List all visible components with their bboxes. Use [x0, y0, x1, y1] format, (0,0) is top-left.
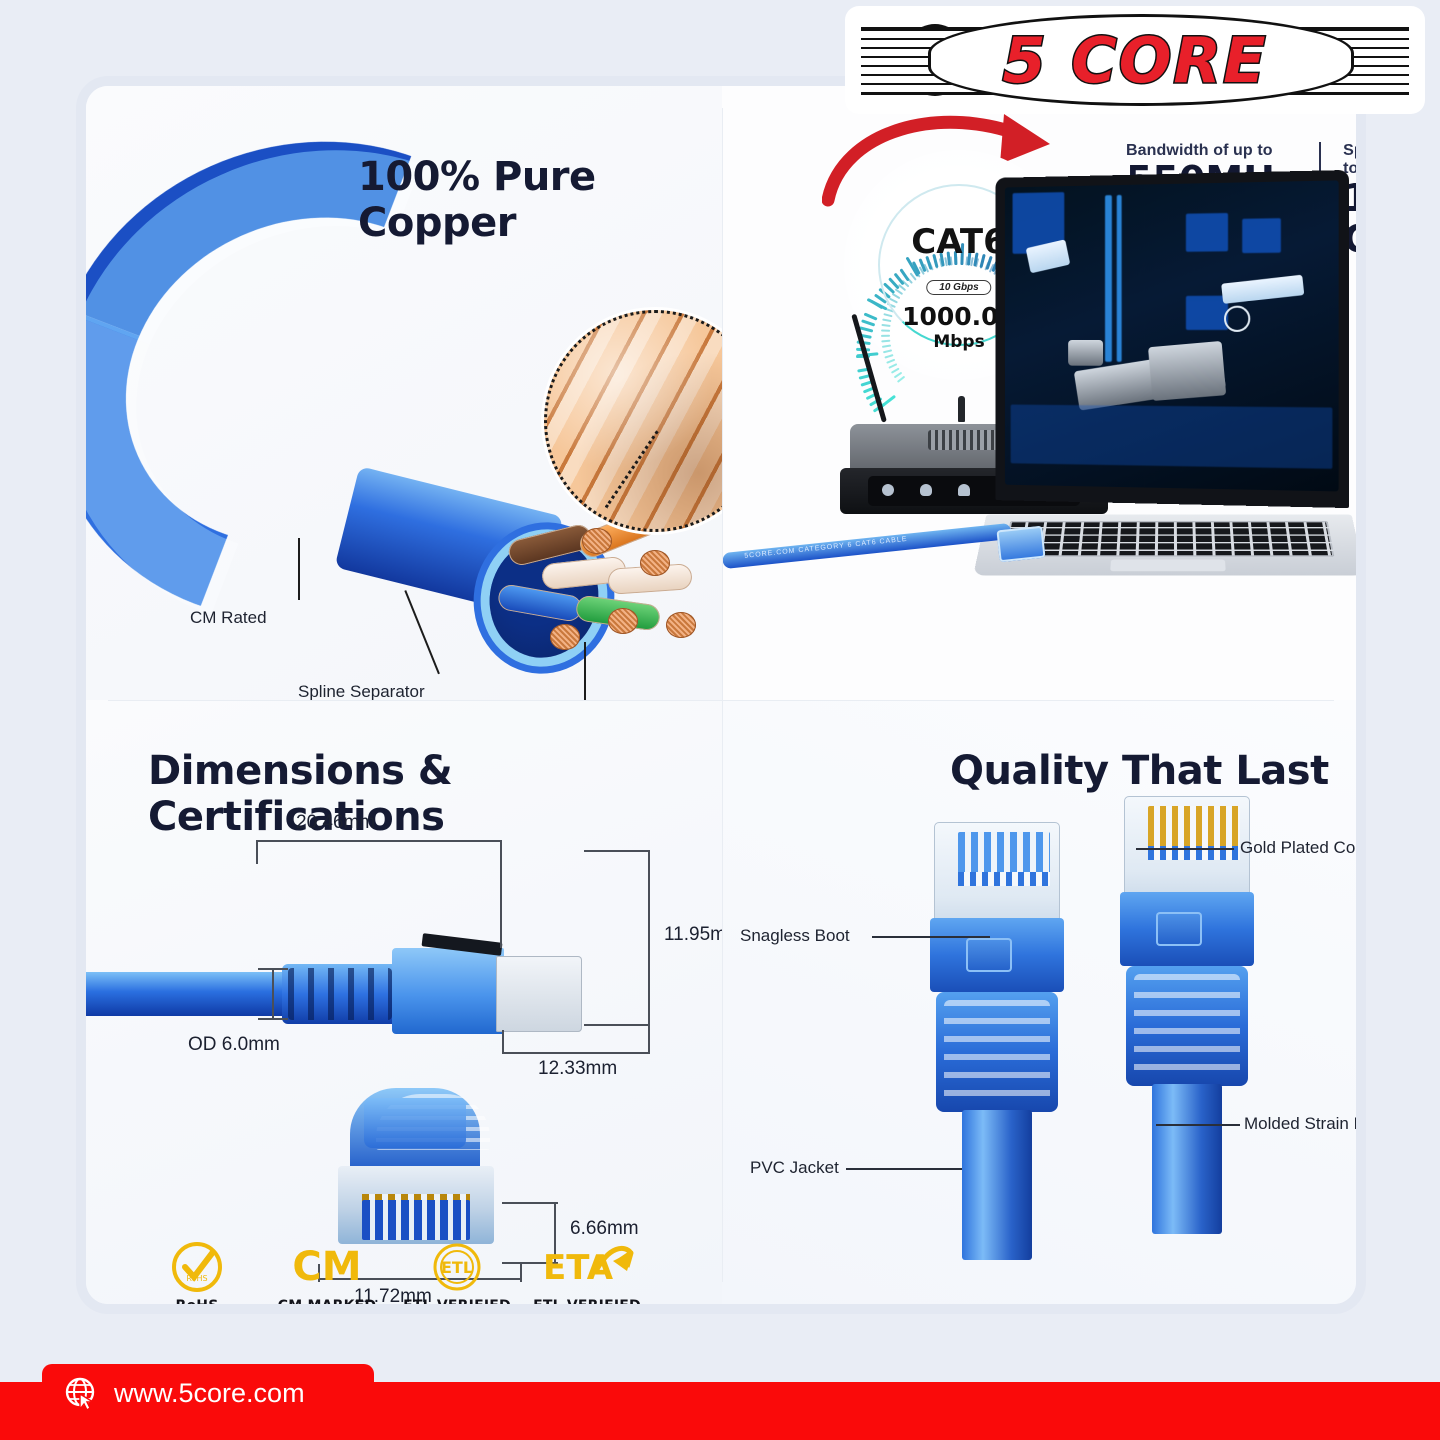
label-spline-separator: Spline Separator	[298, 682, 425, 700]
crosshair-icon	[1224, 306, 1250, 332]
cable-boot-side	[282, 964, 398, 1024]
svg-text:ETA: ETA	[543, 1248, 614, 1288]
rj45-plug-body	[392, 948, 504, 1034]
globe-cursor-icon	[64, 1376, 98, 1410]
badge-eta-caption: ETL VERIFIED	[522, 1298, 652, 1304]
dimline-plug-width	[502, 1052, 650, 1054]
router-led-internet	[920, 484, 932, 496]
copper-end-4	[550, 624, 580, 650]
cable-print-text: 5CORE.COM CATEGORY 6 CAT6 CABLE	[744, 536, 908, 560]
dimline-height	[648, 850, 650, 1026]
copper-end-1	[582, 528, 612, 554]
rj45-pin-wires	[362, 1200, 470, 1240]
rohs-check-circle-icon: RoHS	[132, 1236, 262, 1298]
badge-rohs: RoHS RoHS COMPLIANT	[132, 1236, 262, 1304]
panel-title-dimensions: Dimensions & Certifications	[148, 748, 722, 840]
laptop-graphic	[990, 174, 1356, 614]
pair-blue	[496, 583, 583, 623]
badge-eta: ETA ETL VERIFIED	[522, 1236, 652, 1304]
cable-jacket-side	[86, 972, 290, 1016]
callout-strain-relief: Molded Strain Relief	[1244, 1114, 1356, 1134]
eta-arrow-icon: ETA	[522, 1236, 652, 1298]
panel-pure-copper: 100% Pure Copper CM Rated Spline Separat…	[86, 86, 722, 700]
connector-left-jacket	[962, 1110, 1032, 1260]
leader-strain-relief	[1156, 1124, 1240, 1126]
connector-right-window	[1156, 912, 1202, 946]
panel-divider-vertical	[722, 108, 723, 1282]
laptop-screen-game	[1005, 180, 1339, 491]
dimtext-od: OD 6.0mm	[188, 1034, 280, 1056]
etl-seal-icon: ETL	[392, 1236, 522, 1298]
laptop-keyboard	[1004, 521, 1335, 557]
certification-badges: RoHS RoHS COMPLIANT CM CM MARKED ETL ETL	[132, 1236, 652, 1304]
leader-twisted-pairs	[584, 642, 586, 700]
cm-mark-icon: CM	[262, 1236, 392, 1298]
connector-left-latch	[966, 938, 1012, 972]
badge-cm-caption: CM MARKED	[262, 1298, 392, 1304]
badge-etl-caption: ETL VERIFIED	[392, 1298, 522, 1304]
svg-text:RoHS: RoHS	[186, 1274, 207, 1283]
copper-end-3	[608, 608, 638, 634]
footer-bar: www.5core.com	[0, 1382, 1440, 1440]
cable-plug-end	[996, 526, 1045, 563]
connector-right-strain-relief	[1126, 966, 1248, 1086]
panel-title-quality: Quality That Last	[950, 748, 1329, 794]
leader-spline-separator	[404, 590, 439, 674]
callout-snagless-boot: Snagless Boot	[740, 926, 850, 946]
leader-gold-contacts	[1136, 848, 1234, 850]
panel-divider-horizontal	[108, 700, 1334, 701]
brand-logo: 5 CORE	[845, 6, 1425, 114]
leader-pvc-jacket	[846, 1168, 962, 1170]
label-cm-rated: CM Rated	[190, 608, 267, 628]
connector-right-jacket	[1152, 1084, 1222, 1234]
router-led-wlan	[958, 484, 970, 496]
dimline-length	[256, 840, 502, 842]
copper-end-2	[640, 550, 670, 576]
leader-snagless-boot	[872, 936, 990, 938]
copper-end-5	[666, 612, 696, 638]
panel-quality: Quality That Last Gold Plated Con	[722, 700, 1356, 1304]
laptop-trackpad	[1110, 560, 1226, 572]
panel-title-pure-copper: 100% Pure Copper	[358, 154, 722, 246]
website-url: www.5core.com	[114, 1378, 305, 1409]
rj45-clear-housing	[496, 956, 582, 1032]
dimtext-length: 20.46mm	[296, 812, 375, 834]
badge-rohs-caption: RoHS COMPLIANT	[132, 1298, 262, 1304]
ethernet-cable-graphic: 5CORE.COM CATEGORY 6 CAT6 CABLE	[722, 523, 1012, 569]
dimtext-height: 11.95mm	[664, 924, 722, 946]
badge-cm: CM CM MARKED	[262, 1236, 392, 1304]
dimtext-plug-width: 12.33mm	[538, 1058, 617, 1080]
gauge-speed-badge: 10 Gbps	[926, 280, 991, 295]
svg-text:ETL: ETL	[441, 1258, 473, 1277]
leader-cm-rated	[298, 538, 300, 600]
logo-text: 5 CORE	[861, 17, 1409, 103]
badge-etl: ETL ETL VERIFIED	[392, 1236, 522, 1304]
connector-left-strain-relief	[936, 992, 1058, 1112]
laptop-screen-frame	[995, 170, 1349, 508]
panel-dimensions-certifications: Dimensions & Certifications 20.46mm 11.9…	[86, 700, 722, 1304]
panel-speed-specs: Bandwidth of up to 550MHz Speeds of up t…	[722, 86, 1356, 700]
copper-strands-zoom-circle	[544, 310, 722, 532]
router-led-power	[882, 484, 894, 496]
twisted-pair-bundle	[490, 516, 722, 700]
dimline-od	[272, 968, 274, 1020]
callout-gold-contacts: Gold Plated Contacts	[1240, 838, 1356, 858]
router-antenna-mid	[958, 396, 965, 422]
gold-contacts	[1148, 806, 1240, 850]
website-pill[interactable]: www.5core.com	[42, 1364, 374, 1422]
infographic-card: 100% Pure Copper CM Rated Spline Separat…	[86, 86, 1356, 1304]
callout-pvc-jacket: PVC Jacket	[750, 1158, 839, 1178]
